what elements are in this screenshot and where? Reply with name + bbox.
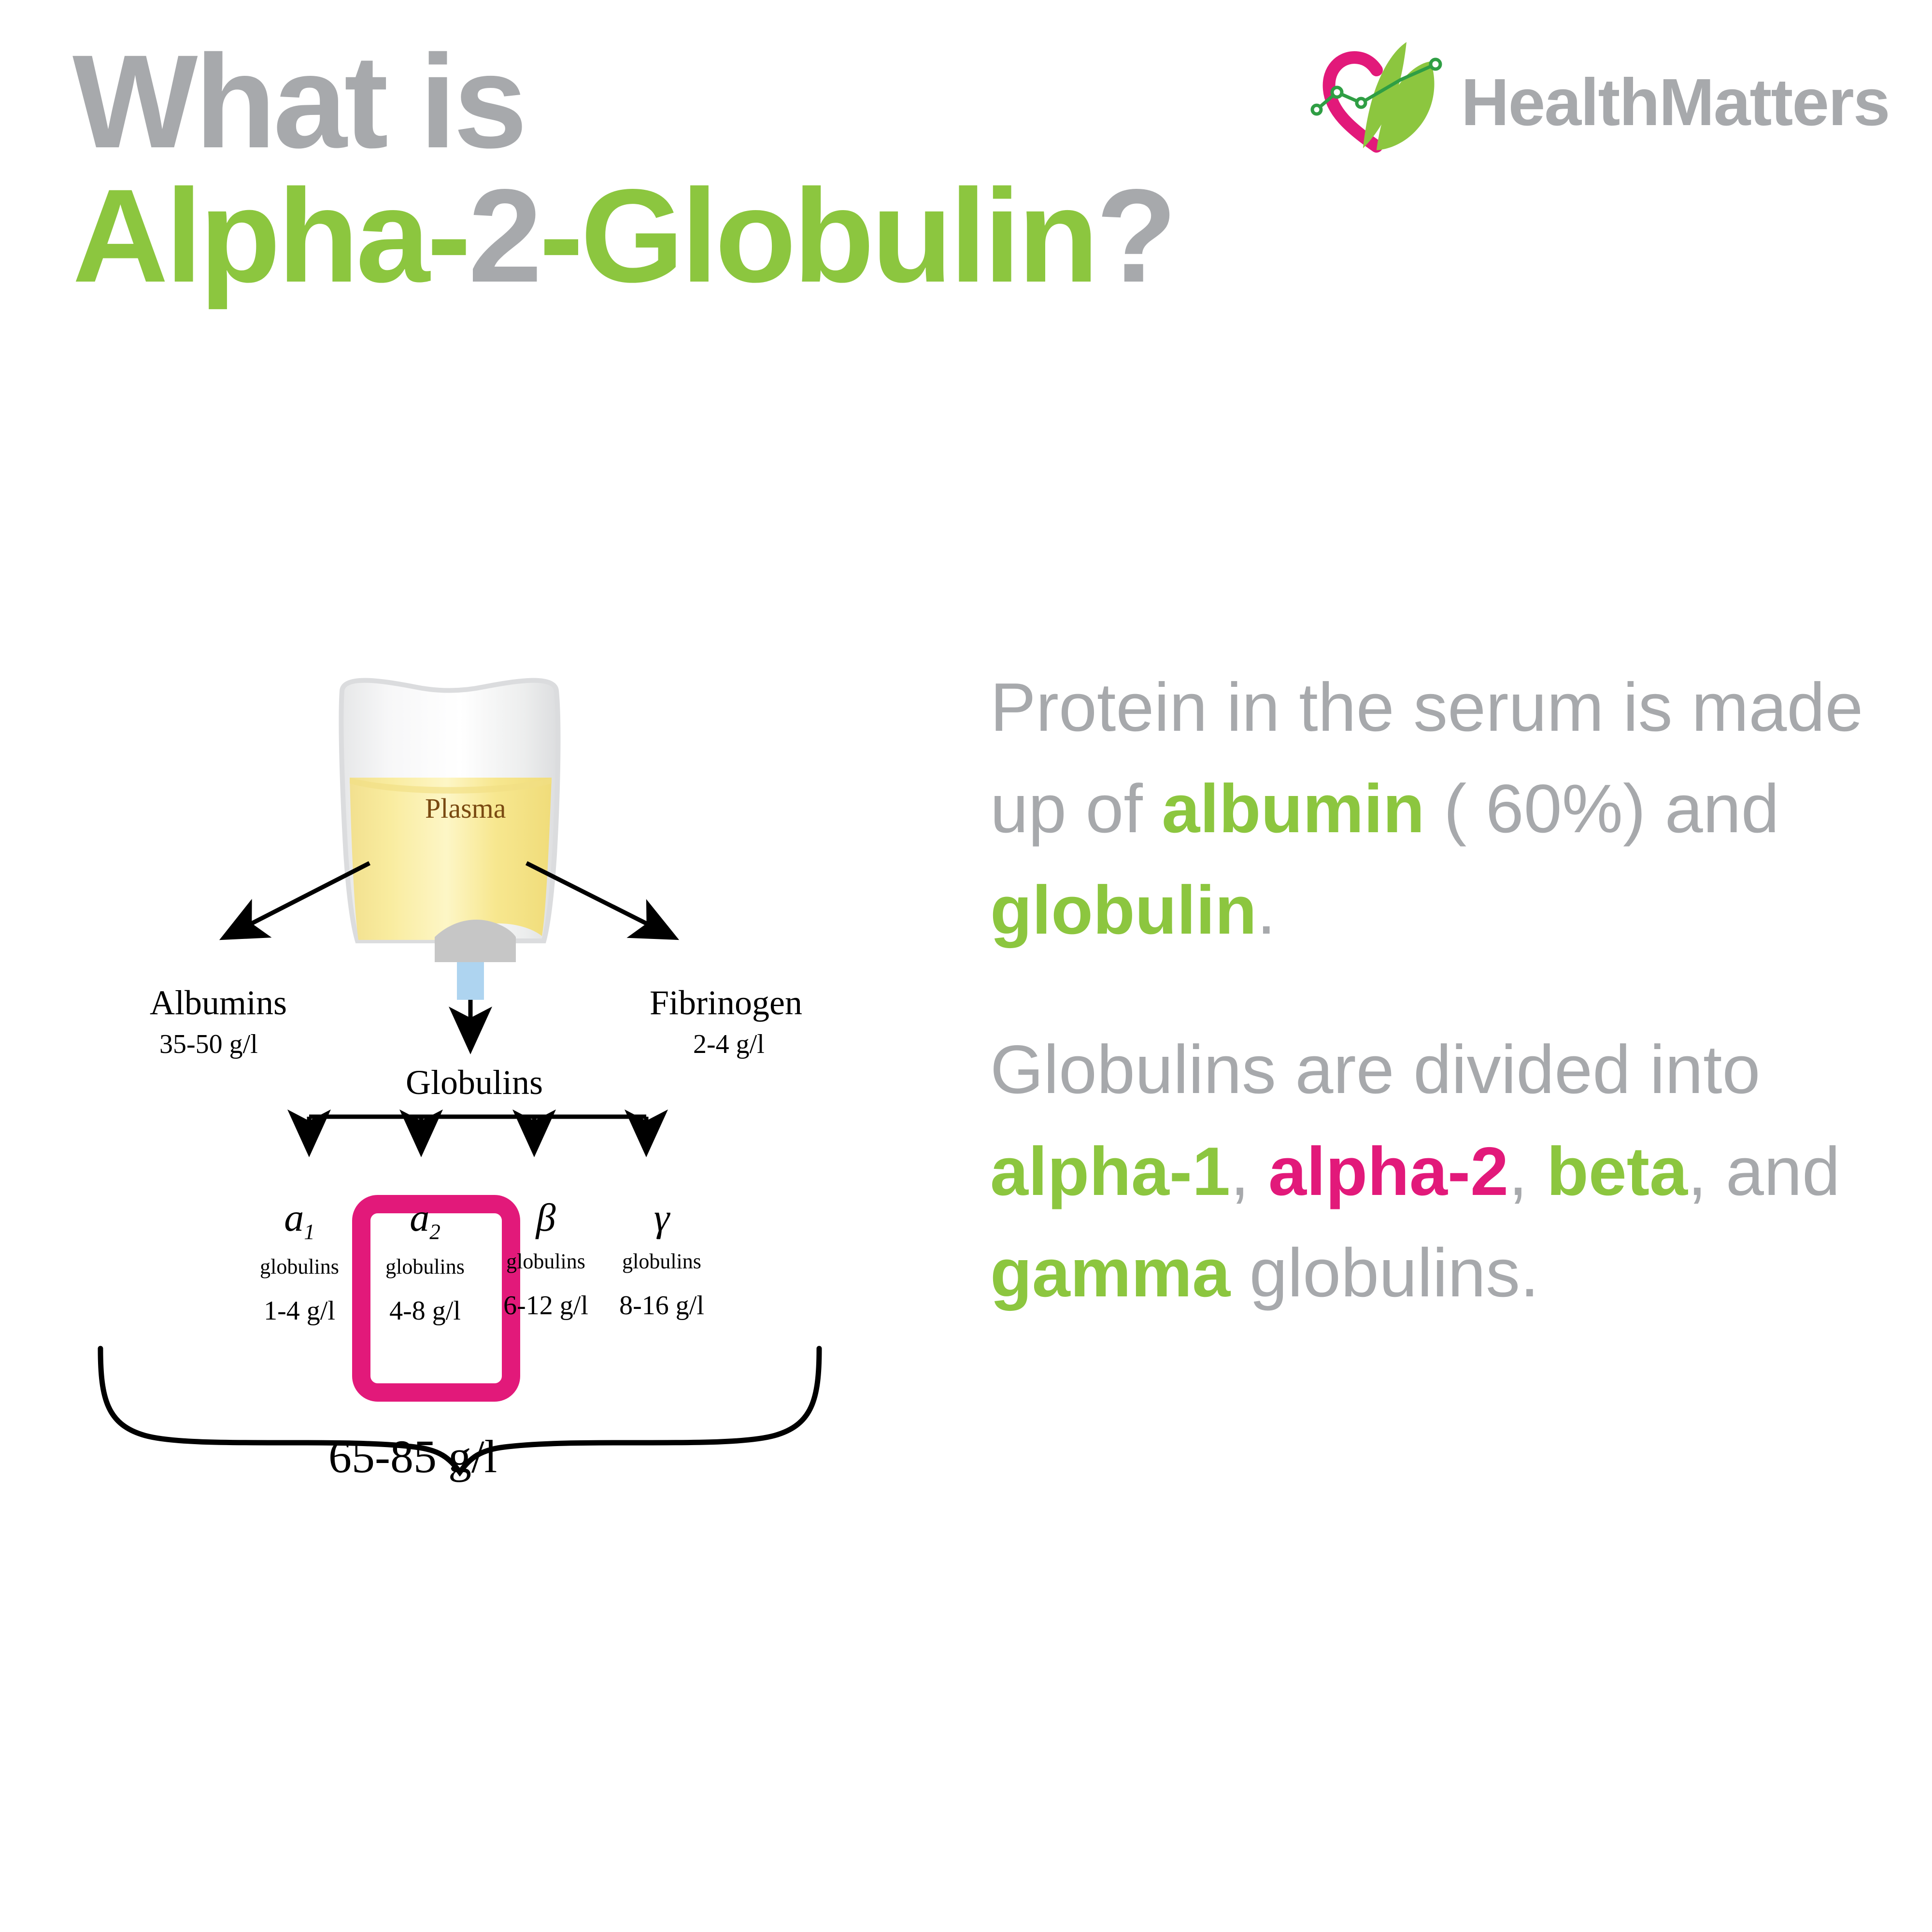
title-part-question: ? — [1096, 162, 1174, 310]
subtype-symbol: a1 — [241, 1198, 357, 1243]
globulin-subtype-beta: β globulins 6-12 g/l — [488, 1198, 604, 1321]
brand-name: HealthMatters — [1461, 64, 1889, 141]
branch-value-albumins: 35-50 g/l — [159, 1029, 258, 1060]
p2-seg-4: , and — [1688, 1133, 1840, 1210]
p1-keyword-albumin: albumin — [1162, 770, 1424, 847]
p2-keyword-alpha-2: alpha-2 — [1268, 1133, 1508, 1210]
p2-keyword-alpha-1: alpha-1 — [990, 1133, 1230, 1210]
branch-value-fibrinogen: 2-4 g/l — [693, 1029, 765, 1060]
p2-seg-5: globulins. — [1230, 1235, 1539, 1311]
heart-leaf-chart-icon — [1304, 27, 1449, 162]
subtype-value: 8-16 g/l — [604, 1290, 720, 1321]
subtype-name: globulins — [241, 1254, 357, 1279]
title-line-2: Alpha-2-Globulin? — [72, 170, 1174, 302]
title-part-two: 2 — [468, 162, 539, 310]
paragraph-2: Globulins are divided into alpha-1, alph… — [990, 1019, 1898, 1323]
p2-seg-1: Globulins are divided into — [990, 1031, 1761, 1108]
subtype-value: 1-4 g/l — [241, 1295, 357, 1326]
globulin-subtype-gamma: γ globulins 8-16 g/l — [604, 1198, 720, 1321]
p1-seg-3: . — [1257, 872, 1276, 949]
subtype-value: 4-8 g/l — [367, 1295, 483, 1326]
explanatory-copy: Protein in the serum is made up of album… — [990, 657, 1898, 1324]
page-title: What is Alpha-2-Globulin? — [72, 39, 1174, 302]
p2-keyword-gamma: gamma — [990, 1235, 1230, 1311]
globulin-subtype-alpha-1: a1 globulins 1-4 g/l — [241, 1198, 357, 1326]
p1-seg-2: ( 60%) and — [1425, 770, 1779, 847]
title-part-alpha: Alpha- — [72, 162, 468, 310]
branch-label-albumins: Albumins — [150, 983, 287, 1023]
total-protein-value: 65-85 g/l — [328, 1430, 497, 1483]
title-part-globulin: -Globulin — [539, 162, 1096, 310]
subtype-value: 6-12 g/l — [488, 1290, 604, 1321]
subtype-symbol: a2 — [367, 1198, 483, 1243]
branch-label-fibrinogen: Fibrinogen — [650, 983, 802, 1023]
brand-logo[interactable]: HealthMatters — [1304, 27, 1889, 167]
p2-keyword-beta: beta — [1547, 1133, 1688, 1210]
plasma-bag — [341, 681, 559, 1000]
plasma-label: Plasma — [425, 792, 506, 824]
p2-seg-2: , — [1230, 1133, 1268, 1210]
p1-keyword-globulin: globulin — [990, 872, 1257, 949]
subtype-symbol: β — [488, 1198, 604, 1237]
infographic-canvas: What is Alpha-2-Globulin? — [0, 0, 1932, 1932]
branch-label-globulins: Globulins — [406, 1063, 543, 1103]
globulin-subtype-alpha-2: a2 globulins 4-8 g/l — [367, 1198, 483, 1326]
p2-seg-3: , — [1508, 1133, 1547, 1210]
subtype-symbol: γ — [604, 1198, 720, 1237]
subtype-name: globulins — [367, 1254, 483, 1279]
title-line-1: What is — [72, 39, 1174, 165]
subtype-name: globulins — [604, 1249, 720, 1274]
subtype-name: globulins — [488, 1249, 604, 1274]
paragraph-1: Protein in the serum is made up of album… — [990, 657, 1898, 961]
